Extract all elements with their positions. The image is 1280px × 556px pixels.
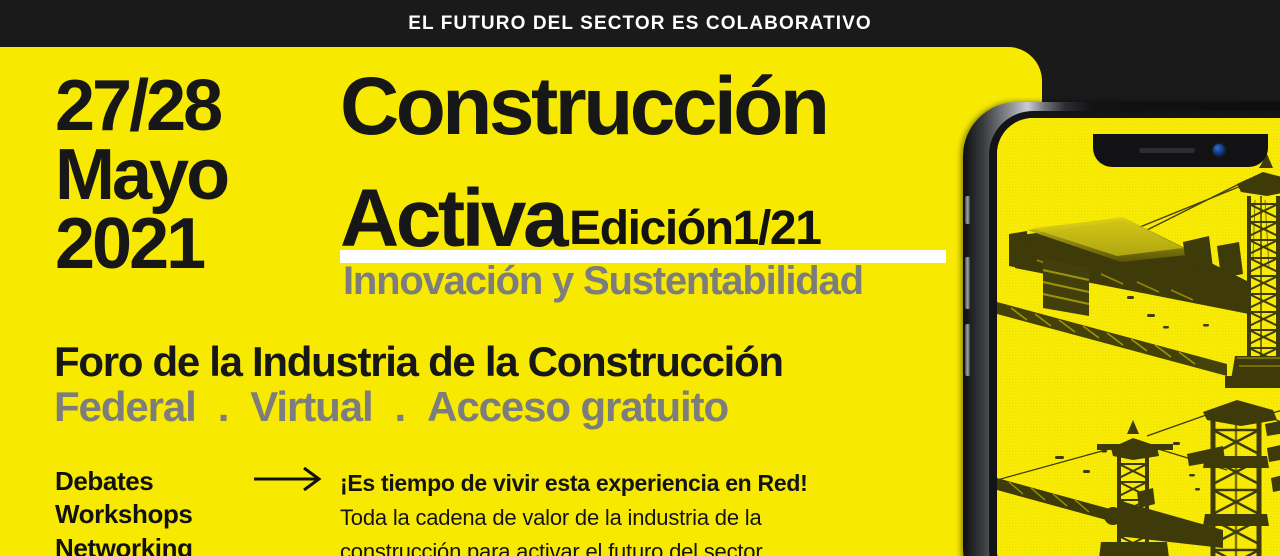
volume-down-button[interactable] — [965, 324, 970, 376]
blurb-body: Toda la cadena de valor de la industria … — [340, 501, 940, 556]
top-banner-text: EL FUTURO DEL SECTOR ES COLABORATIVO — [408, 13, 872, 35]
forum-tag-acceso-gratuito: Acceso gratuito — [427, 386, 728, 428]
blurb-headline: ¡Es tiempo de vivir esta experiencia en … — [340, 466, 940, 501]
event-title-line-2: Activa — [340, 178, 565, 260]
construction-cranes-artwork — [997, 118, 1280, 556]
front-camera-lens-icon — [1213, 144, 1225, 156]
smartphone-mockup — [963, 102, 1280, 556]
event-title-group: Construcción — [340, 72, 1040, 143]
event-date-year: 2021 — [55, 210, 227, 279]
activity-item-debates: Debates — [55, 465, 193, 498]
silent-switch[interactable] — [965, 196, 970, 224]
phone-screen[interactable] — [997, 118, 1280, 556]
blurb-body-line-2: construcción para activar el futuro del … — [340, 535, 940, 556]
event-date-days: 27/28 — [55, 72, 227, 141]
blurb-block: ¡Es tiempo de vivir esta experiencia en … — [340, 466, 940, 556]
top-banner: EL FUTURO DEL SECTOR ES COLABORATIVO — [0, 0, 1280, 47]
forum-tag-virtual: Virtual — [250, 386, 372, 428]
forum-name: Foro de la Industria de la Construcción — [54, 341, 783, 383]
speaker-grille-icon — [1139, 148, 1195, 153]
event-date-month: Mayo — [55, 141, 227, 210]
event-subtitle: Innovación y Sustentabilidad — [343, 261, 863, 301]
forum-tag-federal: Federal — [54, 386, 196, 428]
tag-separator-1: . — [218, 386, 229, 428]
arrow-right-icon — [254, 467, 326, 491]
blurb-body-line-1: Toda la cadena de valor de la industria … — [340, 501, 940, 535]
activity-item-networking: Networking — [55, 532, 193, 556]
volume-up-button[interactable] — [965, 257, 970, 309]
event-title-row-2: Activa Edición1/21 — [340, 178, 821, 260]
yellow-content-panel: 27/28 Mayo 2021 Construcción Activa Edic… — [0, 47, 1042, 556]
event-title-line-1: Construcción — [340, 72, 1040, 143]
event-date-block: 27/28 Mayo 2021 — [55, 72, 227, 279]
activity-item-workshops: Workshops — [55, 498, 193, 531]
poster-canvas: EL FUTURO DEL SECTOR ES COLABORATIVO 27/… — [0, 0, 1280, 556]
event-edition-label: Edición1/21 — [569, 205, 820, 253]
tag-separator-2: . — [395, 386, 406, 428]
forum-tags-line: Federal . Virtual . Acceso gratuito — [54, 386, 728, 428]
phone-notch — [1093, 134, 1268, 167]
activities-list: Debates Workshops Networking — [55, 465, 193, 556]
